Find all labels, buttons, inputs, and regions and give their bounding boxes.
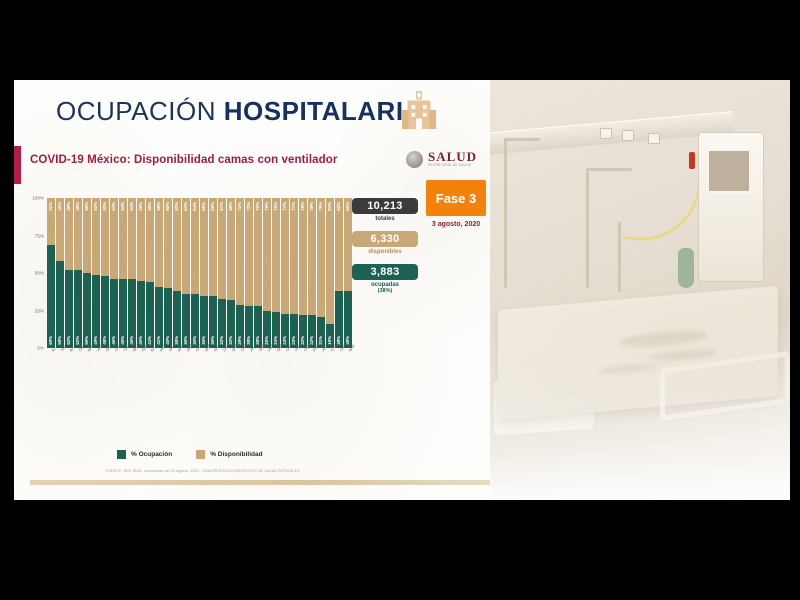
bar-label-ocupacion: 22% [301, 336, 305, 345]
chart-bar[interactable]: 62%38% [344, 198, 352, 348]
bar-segment-disponibilidad: 62% [335, 198, 343, 291]
legend-label-disponibilidad: % Disponibilidad [210, 451, 262, 458]
bar-segment-disponibilidad: 76% [272, 198, 280, 312]
bar-label-ocupacion: 38% [175, 336, 179, 345]
title-light: OCUPACIÓN [56, 96, 224, 126]
chart-source-note: FUENTE: RED IRAG, acumulado del 02 agost… [106, 469, 406, 473]
bar-label-disponibilidad: 68% [229, 202, 233, 211]
salud-name: SALUD [428, 150, 477, 163]
legend-label-ocupacion: % Ocupación [131, 451, 172, 458]
x-tick: TAB. [56, 349, 64, 371]
chart-bar[interactable]: 68%32% [227, 198, 235, 348]
bar-label-disponibilidad: 78% [310, 202, 314, 211]
stat-occupied-caption: ocupadas (38%) [352, 282, 418, 294]
x-tick: TLAX. [119, 349, 127, 371]
bar-segment-disponibilidad: 72% [245, 198, 253, 306]
x-tick: CHIS. [236, 349, 244, 371]
x-tick: B.C. [65, 349, 73, 371]
x-tick: QRO. [227, 349, 235, 371]
phase-badge: Fase 3 [426, 180, 486, 216]
y-tick-label: 75% [35, 233, 44, 238]
bar-segment-disponibilidad: 71% [236, 198, 244, 305]
x-tick: CHIH. [110, 349, 118, 371]
bar-label-disponibilidad: 50% [85, 202, 89, 211]
x-tick: DGO. [182, 349, 190, 371]
bar-label-disponibilidad: 77% [283, 202, 287, 211]
bar-segment-disponibilidad: 72% [254, 198, 262, 306]
chart-bar[interactable]: 48%52% [65, 198, 73, 348]
photo-fade-overlay [490, 80, 790, 500]
x-tick: MEX. [155, 349, 163, 371]
bar-label-disponibilidad: 55% [139, 202, 143, 211]
x-tick: MICH. [128, 349, 136, 371]
bar-label-disponibilidad: 76% [274, 202, 278, 211]
x-tick: QROO. [272, 349, 280, 371]
chart-bar[interactable]: 62%38% [173, 198, 181, 348]
bar-segment-ocupacion: 35% [209, 296, 217, 349]
bar-label-disponibilidad: 54% [112, 202, 116, 211]
bar-segment-ocupacion: 38% [173, 291, 181, 348]
bar-label-disponibilidad: 59% [157, 202, 161, 211]
bar-segment-disponibilidad: 62% [173, 198, 181, 291]
red-accent-bar [14, 146, 21, 184]
bar-segment-ocupacion: 32% [227, 300, 235, 348]
bar-label-disponibilidad: 79% [319, 202, 323, 211]
x-tick: SON. [137, 349, 145, 371]
bar-label-ocupacion: 49% [94, 336, 98, 345]
bar-segment-disponibilidad: 68% [227, 198, 235, 300]
bar-segment-ocupacion: 36% [191, 294, 199, 348]
bar-segment-disponibilidad: 60% [164, 198, 172, 288]
chart-bar[interactable]: 64%36% [182, 198, 190, 348]
slide-bottom-band [30, 480, 490, 485]
chart-bar[interactable]: 77%23% [290, 198, 298, 348]
bar-label-disponibilidad: 84% [328, 202, 332, 211]
bar-segment-ocupacion: 50% [83, 273, 91, 348]
chart-bar[interactable]: 62%38% [335, 198, 343, 348]
legend-swatch-ocupacion [117, 450, 126, 459]
bar-label-disponibilidad: 62% [175, 202, 179, 211]
salud-seal-icon [406, 151, 423, 168]
bar-segment-ocupacion: 33% [218, 299, 226, 349]
chart-bar[interactable]: 56%44% [146, 198, 154, 348]
bar-label-ocupacion: 52% [76, 336, 80, 345]
chart-bar[interactable]: 79%21% [317, 198, 325, 348]
chart-bar[interactable]: 78%22% [308, 198, 316, 348]
chart-bar[interactable]: 42%58% [56, 198, 64, 348]
bar-label-disponibilidad: 75% [265, 202, 269, 211]
bar-label-disponibilidad: 72% [256, 202, 260, 211]
stat-occupied-value: 3,883 [352, 264, 418, 280]
chart-bar[interactable]: 31%69% [47, 198, 55, 348]
bar-segment-disponibilidad: 59% [155, 198, 163, 287]
bar-segment-disponibilidad: 78% [308, 198, 316, 315]
bar-label-ocupacion: 58% [58, 336, 62, 345]
bar-label-ocupacion: 48% [103, 336, 107, 345]
bar-segment-ocupacion: 48% [101, 276, 109, 348]
slide-header: OCUPACIÓN HOSPITALARIA [14, 80, 490, 142]
x-tick: N.L. [47, 349, 55, 371]
bar-label-disponibilidad: 72% [247, 202, 251, 211]
bar-label-ocupacion: 28% [256, 336, 260, 345]
x-tick: HGO. [263, 349, 271, 371]
y-tick-label: 0% [37, 346, 44, 351]
bar-segment-ocupacion: 36% [182, 294, 190, 348]
salud-subtitle: SECRETARÍA DE SALUD [428, 164, 477, 167]
stat-total-value: 10,213 [352, 198, 418, 214]
bar-segment-disponibilidad: 56% [146, 198, 154, 282]
bar-segment-disponibilidad: 51% [92, 198, 100, 275]
bar-label-disponibilidad: 31% [49, 202, 53, 211]
bar-segment-ocupacion: 45% [137, 281, 145, 349]
bar-label-disponibilidad: 67% [220, 202, 224, 211]
x-tick: JAL. [245, 349, 253, 371]
chart-bar[interactable]: 59%41% [155, 198, 163, 348]
chart-bar[interactable]: 75%25% [263, 198, 271, 348]
stat-occupied-percent: (38%) [352, 288, 418, 294]
bar-segment-disponibilidad: 64% [182, 198, 190, 294]
bar-label-disponibilidad: 65% [202, 202, 206, 211]
bar-label-disponibilidad: 71% [238, 202, 242, 211]
chart-bar[interactable]: 50%50% [83, 198, 91, 348]
screenshot-stage: OCUPACIÓN HOSPITALARIA COVID-19 México: … [0, 0, 800, 600]
bar-label-ocupacion: 46% [112, 336, 116, 345]
bar-label-disponibilidad: 54% [121, 202, 125, 211]
bar-segment-disponibilidad: 54% [128, 198, 136, 279]
bar-label-disponibilidad: 77% [292, 202, 296, 211]
salud-logo: SALUD SECRETARÍA DE SALUD [406, 146, 488, 172]
bar-segment-disponibilidad: 55% [137, 198, 145, 281]
chart-bar[interactable]: 67%33% [218, 198, 226, 348]
presentation-slide: OCUPACIÓN HOSPITALARIA COVID-19 México: … [14, 80, 490, 500]
slide-subtitle: COVID-19 México: Disponibilidad camas co… [30, 154, 337, 166]
bar-label-ocupacion: 36% [184, 336, 188, 345]
bar-segment-disponibilidad: 52% [101, 198, 109, 276]
chart-bar[interactable]: 65%35% [209, 198, 217, 348]
chart-bar[interactable]: 71%29% [236, 198, 244, 348]
bar-label-disponibilidad: 64% [193, 202, 197, 211]
bar-label-ocupacion: 69% [49, 336, 53, 345]
y-tick-label: 50% [35, 271, 44, 276]
bar-label-ocupacion: 16% [328, 336, 332, 345]
bar-segment-disponibilidad: 67% [218, 198, 226, 299]
x-tick: GTO. [326, 349, 334, 371]
chart-bar[interactable]: 60%40% [164, 198, 172, 348]
bar-segment-ocupacion: 52% [74, 270, 82, 348]
bar-segment-ocupacion: 52% [65, 270, 73, 348]
bar-label-disponibilidad: 54% [130, 202, 134, 211]
chart-y-axis: 0%25%50%75%100% [22, 198, 46, 348]
chart-bar[interactable]: 55%45% [137, 198, 145, 348]
bar-label-ocupacion: 52% [67, 336, 71, 345]
bar-label-disponibilidad: 48% [67, 202, 71, 211]
phase-date: 3 agosto, 2020 [426, 221, 486, 228]
bar-label-disponibilidad: 42% [58, 202, 62, 211]
bar-label-disponibilidad: 60% [166, 202, 170, 211]
bar-segment-disponibilidad: 64% [191, 198, 199, 294]
x-tick: COAH. [299, 349, 307, 371]
bar-segment-ocupacion: 38% [335, 291, 343, 348]
x-tick: VER. [92, 349, 100, 371]
chart-bar[interactable]: 51%49% [92, 198, 100, 348]
bar-segment-disponibilidad: 65% [209, 198, 217, 296]
bar-label-ocupacion: 32% [229, 336, 233, 345]
bar-label-disponibilidad: 62% [346, 202, 350, 211]
bar-segment-disponibilidad: 78% [299, 198, 307, 315]
bar-segment-disponibilidad: 62% [344, 198, 352, 291]
bar-segment-disponibilidad: 48% [74, 198, 82, 270]
bar-segment-ocupacion: 35% [200, 296, 208, 349]
chart-bar[interactable]: 72%28% [254, 198, 262, 348]
x-tick: TAMP. [254, 349, 262, 371]
bar-label-disponibilidad: 62% [337, 202, 341, 211]
x-tick: MOR. [200, 349, 208, 371]
bar-segment-ocupacion: 40% [164, 288, 172, 348]
chart-bar[interactable]: 72%28% [245, 198, 253, 348]
bar-segment-ocupacion: 69% [47, 245, 55, 349]
chart-bar[interactable]: 54%46% [110, 198, 118, 348]
y-tick-label: 100% [32, 196, 44, 201]
bar-label-disponibilidad: 78% [301, 202, 305, 211]
x-tick: B.C.S. [146, 349, 154, 371]
bar-segment-disponibilidad: 77% [281, 198, 289, 314]
chart-bar[interactable]: 76%24% [272, 198, 280, 348]
x-tick: NAY. [173, 349, 181, 371]
bar-segment-ocupacion: 46% [110, 279, 118, 348]
bar-segment-ocupacion: 46% [128, 279, 136, 348]
bar-segment-ocupacion: 41% [155, 287, 163, 349]
hospital-room-photo: Contigoal100 [490, 80, 790, 500]
bar-segment-ocupacion: 46% [119, 279, 127, 348]
bar-segment-disponibilidad: 65% [200, 198, 208, 296]
stat-available-caption: disponibles [352, 249, 418, 255]
bar-segment-disponibilidad: 84% [326, 198, 334, 324]
chart-legend: % Ocupación % Disponibilidad [117, 450, 263, 459]
stat-total-caption: totales [352, 216, 418, 222]
bar-segment-ocupacion: 28% [254, 306, 262, 348]
bar-label-disponibilidad: 51% [94, 202, 98, 211]
summary-stats: 10,213 totales 6,330 disponibles 3,883 o… [352, 198, 418, 303]
bar-label-ocupacion: 33% [220, 336, 224, 345]
x-tick: SIN. [164, 349, 172, 371]
bar-label-disponibilidad: 64% [184, 202, 188, 211]
bar-segment-disponibilidad: 31% [47, 198, 55, 245]
bar-label-ocupacion: 21% [319, 336, 323, 345]
bar-segment-disponibilidad: 77% [290, 198, 298, 314]
x-tick: ZAC. [218, 349, 226, 371]
bar-label-disponibilidad: 56% [148, 202, 152, 211]
chart-x-axis: N.L.TAB.B.C.COL.NAY.VER.OAX.CHIH.TLAX.MI… [47, 349, 352, 371]
bar-segment-ocupacion: 49% [92, 275, 100, 349]
x-tick: PUE. [308, 349, 316, 371]
bar-segment-disponibilidad: 54% [110, 198, 118, 279]
bar-segment-ocupacion: 29% [236, 305, 244, 349]
occupancy-chart: 0%25%50%75%100% 31%69%42%58%48%52%48%52%… [22, 198, 352, 438]
chart-bar[interactable]: 65%35% [200, 198, 208, 348]
y-tick-label: 25% [35, 308, 44, 313]
page-title: OCUPACIÓN HOSPITALARIA [56, 96, 423, 127]
chart-plot-area: 31%69%42%58%48%52%48%52%50%50%51%49%52%4… [47, 198, 352, 348]
x-tick: COL. [74, 349, 82, 371]
hospital-building-icon [400, 89, 438, 131]
x-tick: SLP. [209, 349, 217, 371]
bar-label-disponibilidad: 52% [103, 202, 107, 211]
bar-segment-disponibilidad: 79% [317, 198, 325, 317]
x-tick: AGS. [317, 349, 325, 371]
x-tick: OAX. [101, 349, 109, 371]
legend-item-disponibilidad: % Disponibilidad [196, 450, 262, 459]
bar-segment-disponibilidad: 50% [83, 198, 91, 273]
bar-segment-ocupacion: 44% [146, 282, 154, 348]
title-bold: HOSPITALARIA [224, 96, 423, 126]
chart-bar[interactable]: 78%22% [299, 198, 307, 348]
bar-segment-disponibilidad: 75% [263, 198, 271, 311]
legend-item-ocupacion: % Ocupación [117, 450, 172, 459]
legend-swatch-disponibilidad [196, 450, 205, 459]
chart-bar[interactable]: 52%48% [101, 198, 109, 348]
x-tick: YUC. [290, 349, 298, 371]
bar-segment-ocupacion: 58% [56, 261, 64, 348]
x-tick: CAMP. [281, 349, 289, 371]
stat-available-value: 6,330 [352, 231, 418, 247]
chart-bar[interactable]: 54%46% [128, 198, 136, 348]
bar-label-disponibilidad: 48% [76, 202, 80, 211]
bar-segment-disponibilidad: 54% [119, 198, 127, 279]
bar-label-ocupacion: 50% [85, 336, 89, 345]
chart-bar[interactable]: 84%16% [326, 198, 334, 348]
x-tick: CDMX. [335, 349, 343, 371]
x-tick: NAC. [344, 349, 352, 371]
chart-bar[interactable]: 48%52% [74, 198, 82, 348]
chart-bar[interactable]: 64%36% [191, 198, 199, 348]
bar-segment-disponibilidad: 48% [65, 198, 73, 270]
chart-bar[interactable]: 77%23% [281, 198, 289, 348]
bar-segment-disponibilidad: 42% [56, 198, 64, 261]
x-tick: GRO. [191, 349, 199, 371]
bar-label-disponibilidad: 65% [211, 202, 215, 211]
chart-bar[interactable]: 54%46% [119, 198, 127, 348]
x-tick: NAY. [83, 349, 91, 371]
